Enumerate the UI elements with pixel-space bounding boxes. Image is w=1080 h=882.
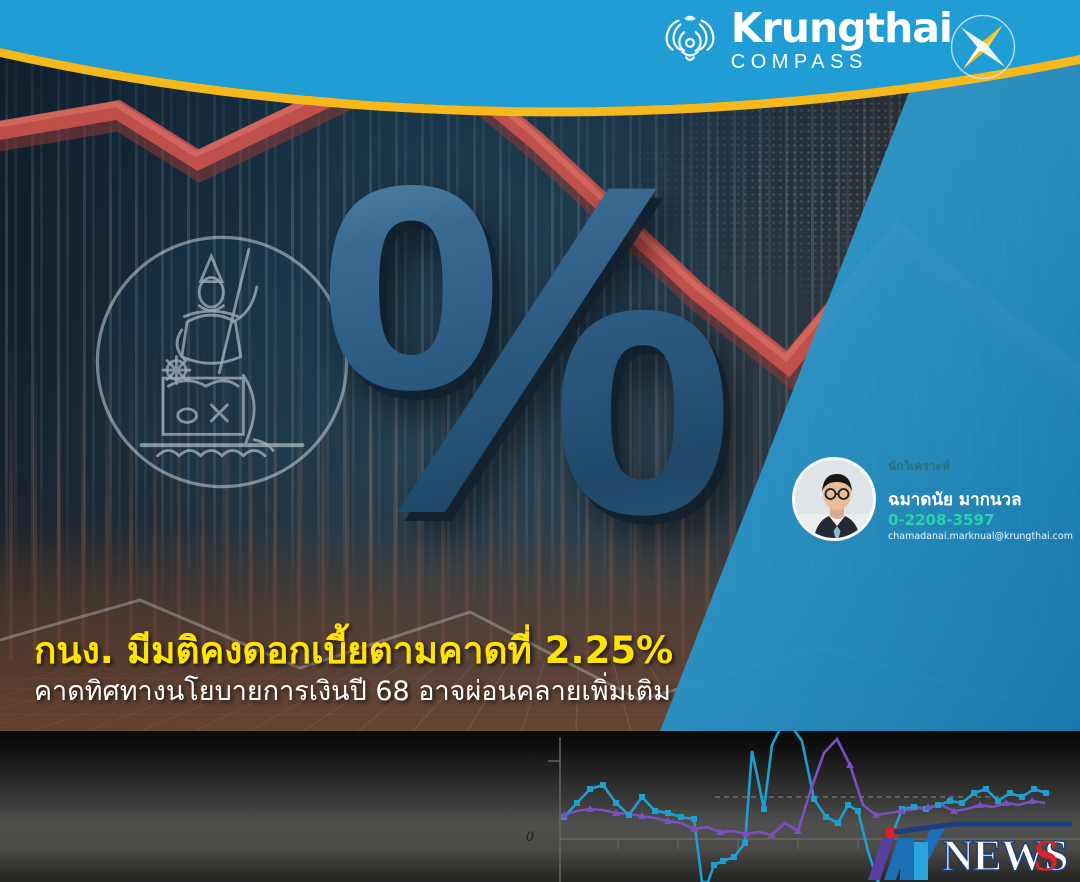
bottom-chart-strip: 2565 2566 2567 2568 t of goods Export of… xyxy=(0,731,1080,882)
y-tick-label-2: 2 xyxy=(526,753,534,770)
infographic-page: % xyxy=(0,0,1080,882)
bank-of-thailand-seal-icon xyxy=(88,228,356,496)
page-title: กนง. มีมติคงดอกเบี้ยตามคาดที่ 2.25% xyxy=(34,628,834,673)
brand-name: Krungthai xyxy=(731,8,952,49)
page-subtitle: คาดทิศทางนโยบายการเงินปี 68 อาจผ่อนคลายเ… xyxy=(34,674,834,709)
hero-banner: % xyxy=(0,0,1080,731)
headline-block: กนง. มีมติคงดอกเบี้ยตามคาดที่ 2.25% คาดท… xyxy=(34,628,834,709)
compass-icon xyxy=(946,10,1020,84)
analyst-card: นักวิเคราะห์ ฉมาดนัย มากนวล 0-2208-3597 … xyxy=(792,455,1072,543)
analyst-details: นักวิเคราะห์ ฉมาดนัย มากนวล 0-2208-3597 … xyxy=(888,455,1072,543)
avatar-illustration xyxy=(795,460,876,541)
analyst-email[interactable]: chamadanai.marknual@krungthai.com xyxy=(888,530,1072,543)
in-news-watermark-logo: NEWS S xyxy=(858,812,1080,882)
y-tick-label-0: 0 xyxy=(526,829,534,846)
watermark-label-s: S xyxy=(1034,831,1058,880)
analyst-portrait-avatar xyxy=(792,457,876,541)
brand-subtitle: COMPASS xyxy=(731,52,952,72)
brand-logo: Krungthai COMPASS xyxy=(659,8,952,72)
blue-diagonal-wedge xyxy=(660,0,1080,731)
analyst-role-label: นักวิเคราะห์ xyxy=(888,457,1072,476)
garuda-emblem-icon xyxy=(659,9,721,71)
analyst-name: ฉมาดนัย มากนวล xyxy=(888,491,1072,511)
analyst-phone[interactable]: 0-2208-3597 xyxy=(888,511,1072,531)
brand-logo-text: Krungthai COMPASS xyxy=(731,8,952,72)
